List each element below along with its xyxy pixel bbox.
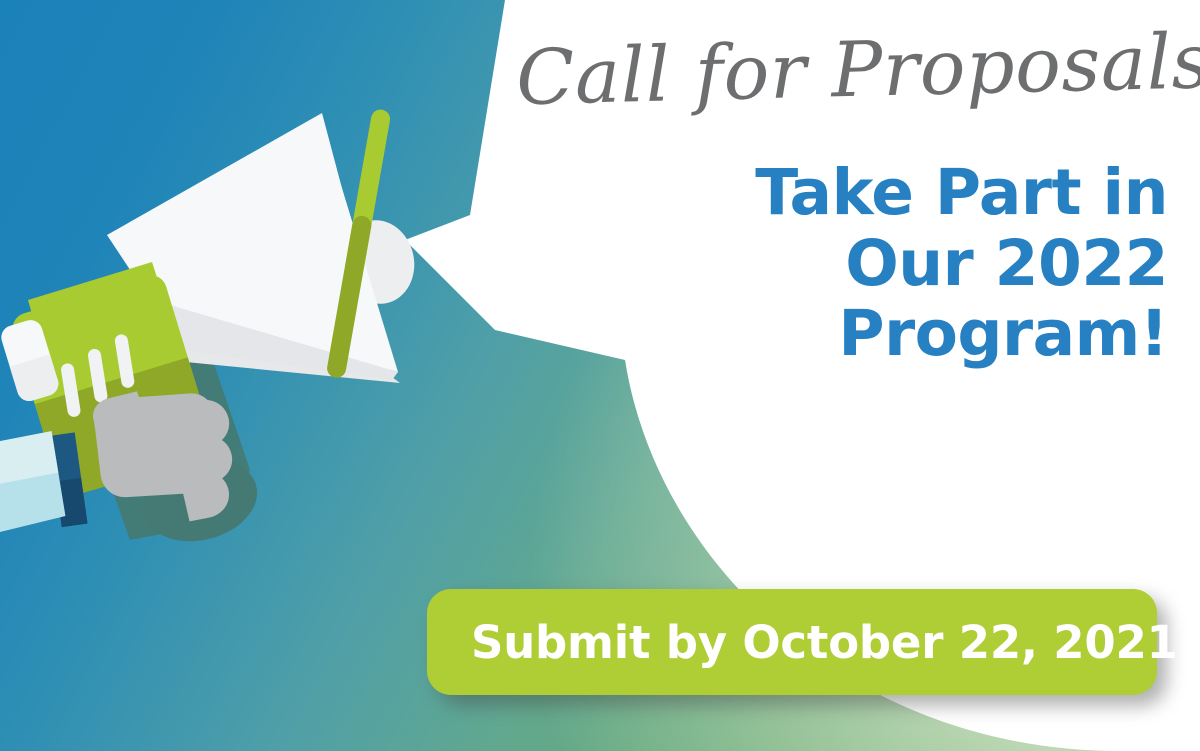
headline: Take Part in Our 2022 Program! [608,158,1168,370]
submit-button-label: Submit by October 22, 2021 [471,616,1178,669]
call-for-proposals-banner: Call for Proposals Take Part in Our 2022… [0,0,1200,751]
headline-line-3: Program! [608,299,1168,370]
headline-line-1: Take Part in [608,158,1168,229]
headline-line-2: Our 2022 [608,229,1168,300]
submit-deadline-button[interactable]: Submit by October 22, 2021 [427,589,1157,695]
script-title: Call for Proposals [515,22,1177,118]
